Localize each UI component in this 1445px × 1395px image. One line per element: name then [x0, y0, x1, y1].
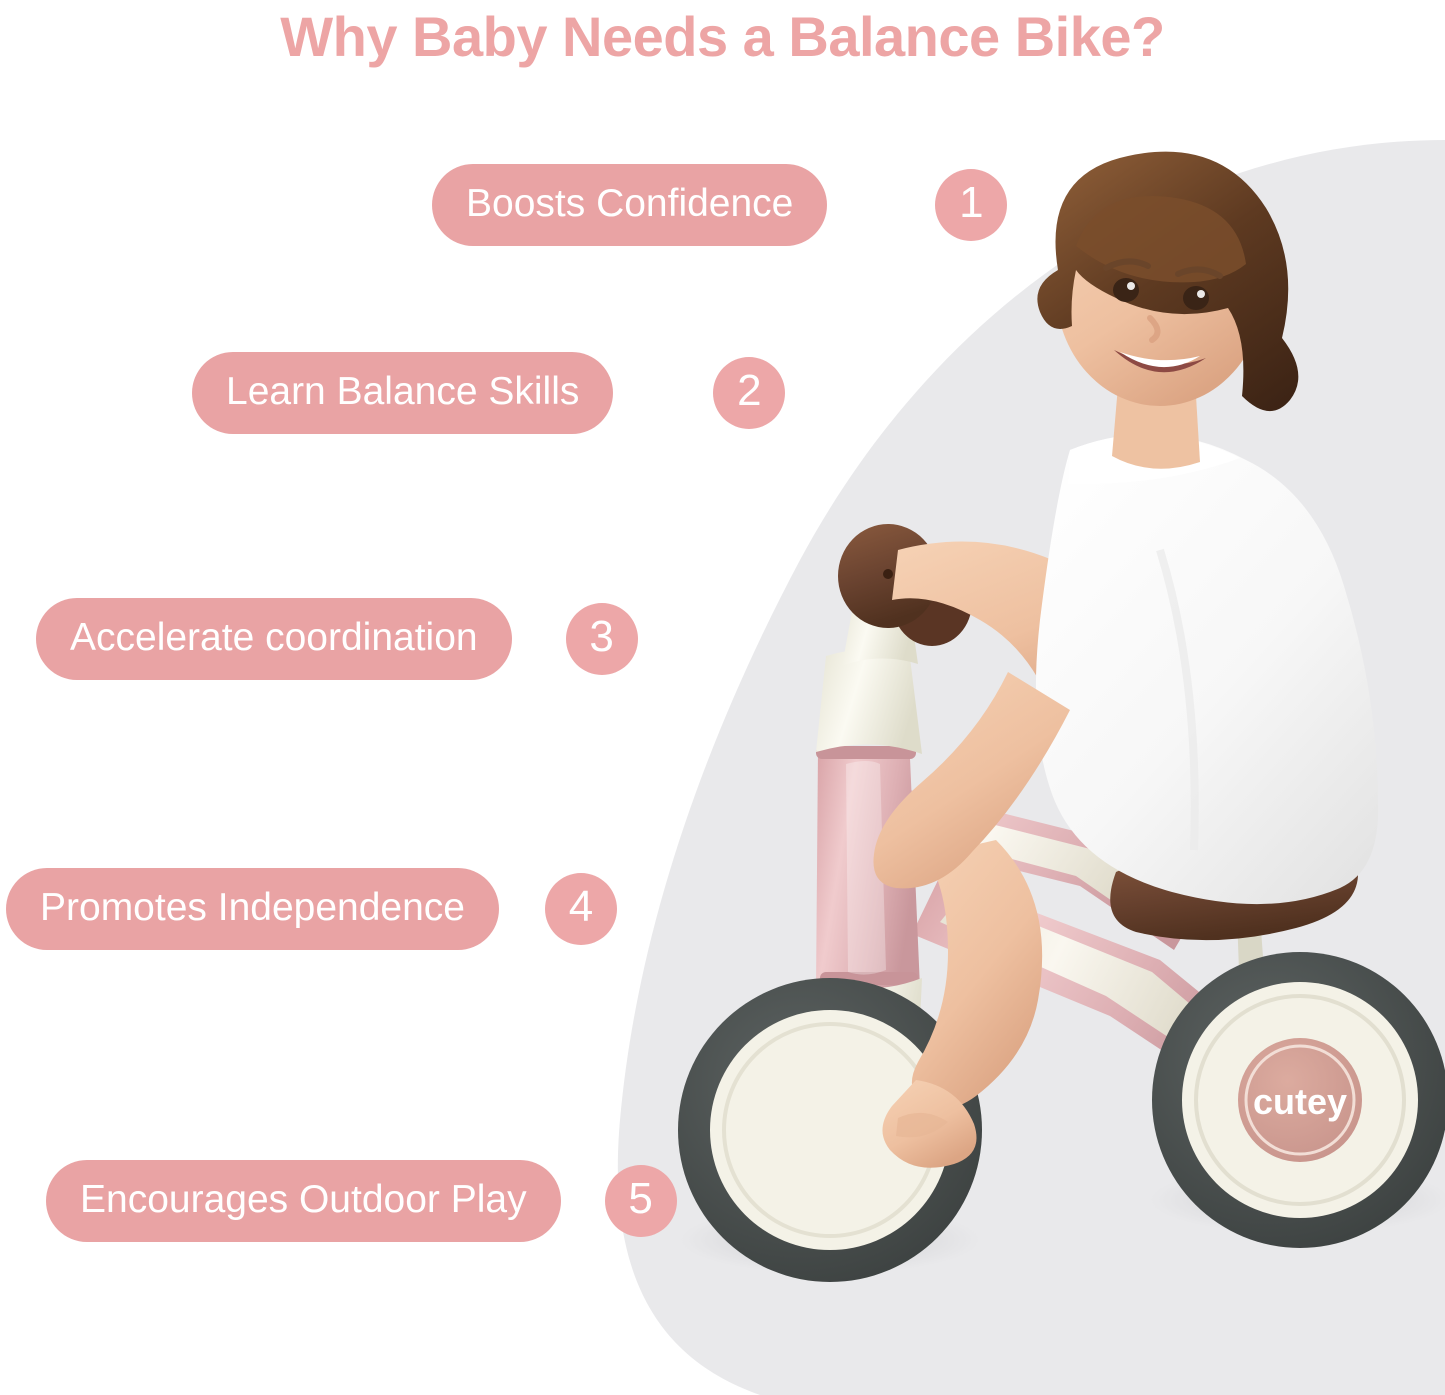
benefit-label-2[interactable]: Learn Balance Skills — [192, 352, 613, 434]
page-title: Why Baby Needs a Balance Bike? — [0, 4, 1445, 69]
benefit-item-4[interactable]: Promotes Independence 4 — [6, 868, 617, 950]
product-photo: cutey — [640, 150, 1445, 1395]
benefit-label-5[interactable]: Encourages Outdoor Play — [46, 1160, 561, 1242]
child-right-eye — [1183, 286, 1209, 310]
benefit-number-badge-5: 5 — [605, 1165, 677, 1237]
bike-grip-center-dot — [883, 569, 893, 579]
product-infographic: cutey — [0, 0, 1445, 1395]
benefit-number-badge-2: 2 — [713, 357, 785, 429]
brand-logo-text: cutey — [1253, 1081, 1347, 1122]
benefit-item-1[interactable]: Boosts Confidence 1 — [432, 164, 1007, 246]
benefit-number-badge-4: 4 — [545, 873, 617, 945]
benefit-number-badge-3: 3 — [566, 603, 638, 675]
benefit-item-3[interactable]: Accelerate coordination 3 — [36, 598, 638, 680]
child-dress — [1036, 434, 1378, 904]
child-left-eye-glint — [1127, 282, 1135, 290]
benefit-item-2[interactable]: Learn Balance Skills 2 — [192, 352, 785, 434]
child-right-eye-glint — [1197, 290, 1205, 298]
benefit-item-5[interactable]: Encourages Outdoor Play 5 — [46, 1160, 677, 1242]
benefit-label-3[interactable]: Accelerate coordination — [36, 598, 512, 680]
benefit-label-4[interactable]: Promotes Independence — [6, 868, 499, 950]
benefit-label-1[interactable]: Boosts Confidence — [432, 164, 827, 246]
child-left-eye — [1113, 278, 1139, 302]
bike-fork-upper — [816, 649, 922, 754]
benefit-number-badge-1: 1 — [935, 169, 1007, 241]
